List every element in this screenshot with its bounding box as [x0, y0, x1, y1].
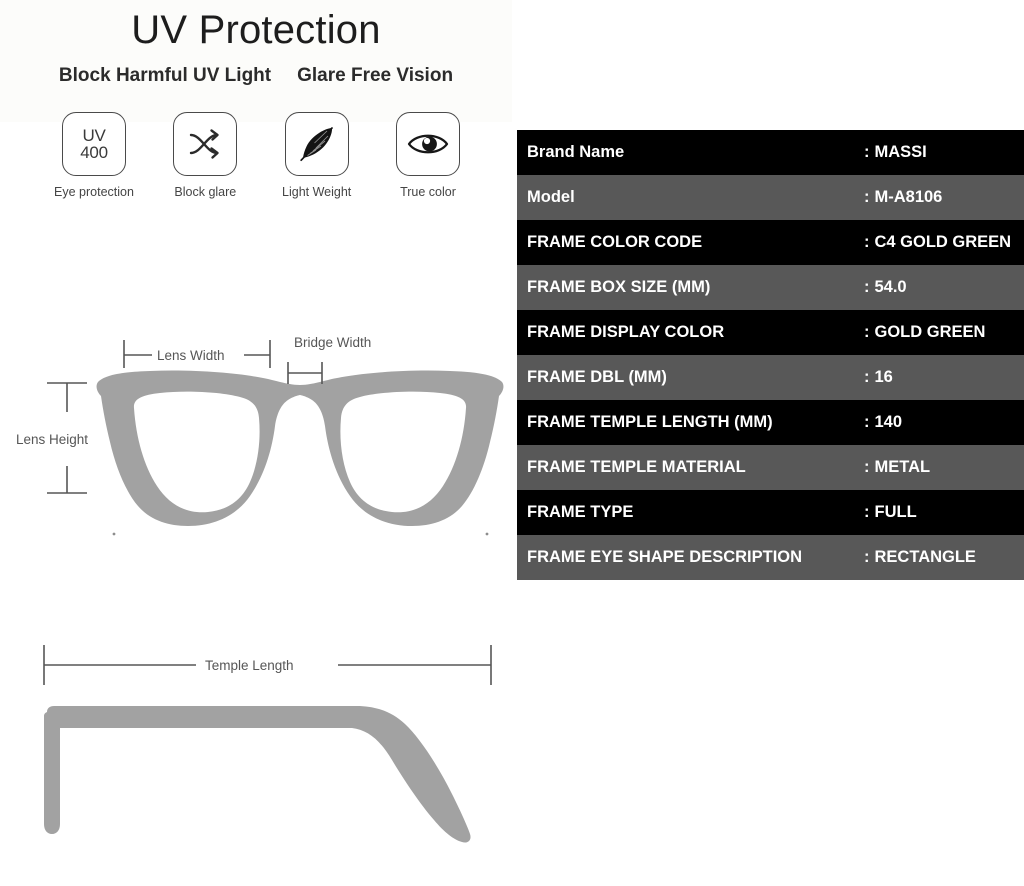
table-row: FRAME COLOR CODE :C4 GOLD GREEN: [517, 220, 1024, 265]
spec-label: FRAME DBL (MM): [517, 355, 864, 400]
eyeglass-frame-shape: [97, 371, 504, 526]
spec-colon: :: [864, 548, 870, 566]
spec-label: FRAME TYPE: [517, 490, 864, 535]
uv-subtitle-row: Block Harmful UV Light Glare Free Vision: [0, 64, 512, 88]
spec-colon: :: [864, 458, 870, 476]
table-row: FRAME EYE SHAPE DESCRIPTION :RECTANGLE: [517, 535, 1024, 580]
uv400-icon: UV 400: [62, 112, 126, 176]
table-row: Model :M-A8106: [517, 175, 1024, 220]
spec-label: FRAME TEMPLE MATERIAL: [517, 445, 864, 490]
spec-value: :METAL: [864, 445, 1024, 490]
uv400-icon-line1: UV: [80, 127, 107, 144]
block-glare-icon: [173, 112, 237, 176]
spec-value-text: 140: [875, 413, 903, 431]
spec-value-text: FULL: [875, 503, 917, 521]
diagram-dot-right: [486, 533, 489, 536]
spec-value: :C4 GOLD GREEN: [864, 220, 1024, 265]
eyeglass-temple-measurement-diagram: Temple Length: [0, 628, 512, 848]
diagram-dot-left: [113, 533, 116, 536]
spec-value-text: MASSI: [875, 143, 927, 161]
spec-label: FRAME TEMPLE LENGTH (MM): [517, 400, 864, 445]
spec-value-text: C4 GOLD GREEN: [875, 233, 1012, 251]
table-row: Brand Name :MASSI: [517, 130, 1024, 175]
feature-eye-protection: UV 400 Eye protection: [46, 112, 142, 199]
bridge-width-dimension: [288, 362, 322, 384]
spec-value-text: M-A8106: [875, 188, 943, 206]
product-infographic-panel: UV Protection Block Harmful UV Light Gla…: [0, 0, 512, 886]
spec-value: :140: [864, 400, 1024, 445]
product-specification-table: Brand Name :MASSI Model :M-A8106 FRAME C…: [517, 130, 1024, 580]
spec-label: FRAME BOX SIZE (MM): [517, 265, 864, 310]
feature-caption-eye-protection: Eye protection: [54, 185, 134, 199]
spec-label: FRAME COLOR CODE: [517, 220, 864, 265]
spec-value: :FULL: [864, 490, 1024, 535]
table-row: FRAME DISPLAY COLOR :GOLD GREEN: [517, 310, 1024, 355]
spec-value: :54.0: [864, 265, 1024, 310]
table-row: FRAME BOX SIZE (MM) :54.0: [517, 265, 1024, 310]
feature-block-glare: Block glare: [157, 112, 253, 199]
feather-icon: [285, 112, 349, 176]
uv-subtitle-glare-free-vision: Glare Free Vision: [297, 64, 453, 88]
lens-height-label: Lens Height: [16, 432, 88, 447]
spec-value: :MASSI: [864, 130, 1024, 175]
spec-value-text: 16: [875, 368, 893, 386]
spec-table-body: Brand Name :MASSI Model :M-A8106 FRAME C…: [517, 130, 1024, 580]
spec-label: Brand Name: [517, 130, 864, 175]
spec-colon: :: [864, 323, 870, 341]
uv-subtitle-block-harmful-light: Block Harmful UV Light: [59, 64, 271, 88]
bridge-width-label: Bridge Width: [294, 335, 371, 350]
temple-arm-shape: [44, 706, 471, 843]
spec-value-text: GOLD GREEN: [875, 323, 986, 341]
spec-colon: :: [864, 413, 870, 431]
uv-protection-title: UV Protection: [0, 6, 512, 54]
feature-caption-true-color: True color: [400, 185, 456, 199]
table-row: FRAME TEMPLE MATERIAL :METAL: [517, 445, 1024, 490]
spec-value: :GOLD GREEN: [864, 310, 1024, 355]
spec-colon: :: [864, 188, 870, 206]
lens-width-label: Lens Width: [157, 348, 225, 363]
temple-length-label: Temple Length: [205, 658, 294, 673]
spec-value-text: RECTANGLE: [875, 548, 976, 566]
spec-label: FRAME EYE SHAPE DESCRIPTION: [517, 535, 864, 580]
spec-colon: :: [864, 143, 870, 161]
spec-colon: :: [864, 278, 870, 296]
feature-icon-row: UV 400 Eye protection Block glare: [46, 112, 476, 199]
eye-icon: [396, 112, 460, 176]
table-row: FRAME TEMPLE LENGTH (MM) :140: [517, 400, 1024, 445]
spec-value-text: METAL: [875, 458, 931, 476]
spec-value: :RECTANGLE: [864, 535, 1024, 580]
uv400-icon-line2: 400: [80, 144, 107, 161]
spec-colon: :: [864, 503, 870, 521]
spec-value: :16: [864, 355, 1024, 400]
spec-value-text: 54.0: [875, 278, 907, 296]
spec-colon: :: [864, 233, 870, 251]
spec-label: FRAME DISPLAY COLOR: [517, 310, 864, 355]
spec-value: :M-A8106: [864, 175, 1024, 220]
feature-caption-block-glare: Block glare: [174, 185, 236, 199]
eyeglass-front-measurement-diagram: Lens Width Bridge Width Lens Height: [0, 300, 512, 550]
table-row: FRAME DBL (MM) :16: [517, 355, 1024, 400]
feature-true-color: True color: [380, 112, 476, 199]
feature-caption-light-weight: Light Weight: [282, 185, 351, 199]
table-row: FRAME TYPE :FULL: [517, 490, 1024, 535]
feature-light-weight: Light Weight: [269, 112, 365, 199]
spec-label: Model: [517, 175, 864, 220]
spec-colon: :: [864, 368, 870, 386]
